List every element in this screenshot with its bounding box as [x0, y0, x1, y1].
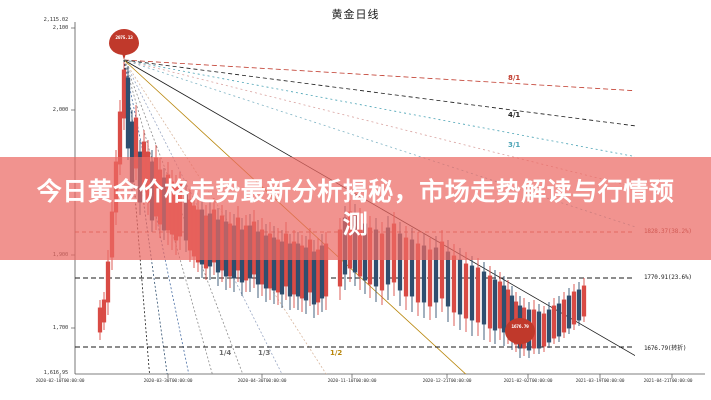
trough-marker-label: 1676.79 [505, 325, 535, 330]
headline-text: 今日黄金价格走势最新分析揭秘，市场走势解读与行情预测 [36, 176, 676, 241]
fan-label-8-1: 8/1 [508, 74, 520, 82]
y-axis-bottom-value: 1,616.95 [6, 370, 68, 376]
x-tick-3: 2020-11-10T00:00:00 [328, 379, 377, 384]
fan-label-3-1: 3/1 [508, 141, 520, 149]
x-tick-4: 2020-12-21T00:00:00 [423, 379, 472, 384]
y-tick-2000: 2,000 [16, 107, 68, 113]
peak-annotation-marker: 2075.13 [109, 29, 143, 63]
y-axis-top-value: 2,115.02 [16, 17, 68, 23]
x-tick-1: 2020-03-30T00:00:00 [144, 379, 193, 384]
x-tick-2: 2020-04-30T00:00:00 [238, 379, 287, 384]
x-tick-5: 2021-02-02T00:00:00 [504, 379, 553, 384]
x-tick-0: 2020-02-10T00:00:00 [36, 379, 85, 384]
trough-annotation-marker: 1676.79 [505, 318, 539, 352]
fan-label-4-1: 4/1 [508, 111, 520, 119]
trough-marker-bubble [505, 318, 535, 344]
y-tick-1700: 1,700 [16, 325, 68, 331]
y-tick-2100: 2,100 [16, 25, 68, 31]
peak-marker-label: 2075.13 [109, 36, 139, 41]
x-tick-marks [60, 374, 672, 378]
fan-label-1-4: 1/4 [219, 349, 231, 357]
headline-banner: 今日黄金价格走势最新分析揭秘，市场走势解读与行情预测 [0, 157, 711, 260]
x-tick-6: 2021-03-19T00:00:00 [576, 379, 625, 384]
chart-screenshot: 黄金日线 [0, 0, 711, 400]
fib-label-236: 1770.91(23.6%) [644, 274, 692, 281]
peak-marker-bubble [109, 29, 139, 55]
x-tick-7: 2021-04-21T00:00:00 [644, 379, 693, 384]
fib-label-turn: 1676.79(转折) [644, 343, 686, 352]
fan-label-1-2: 1/2 [330, 349, 342, 357]
fan-label-1-3: 1/3 [258, 349, 270, 357]
